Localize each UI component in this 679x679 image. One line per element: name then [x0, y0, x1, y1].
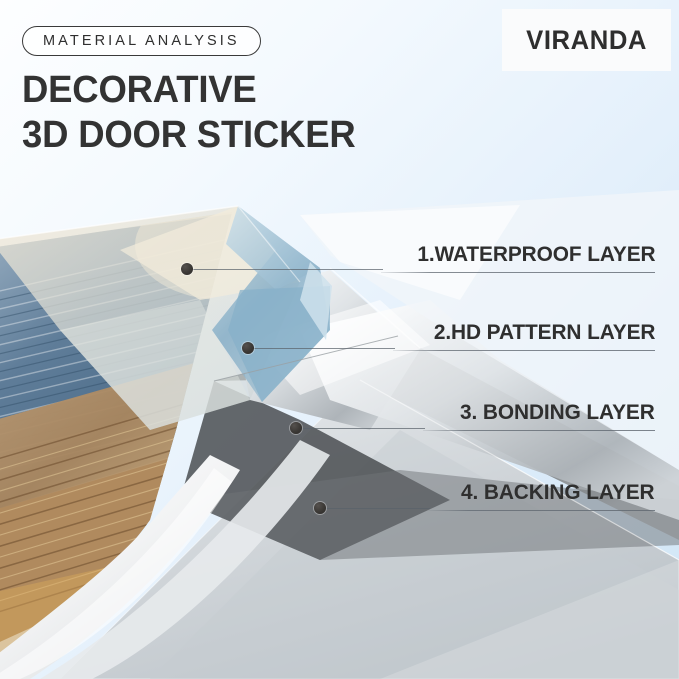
- leader-line-4: [320, 508, 430, 509]
- badge-label: MATERIAL ANALYSIS: [43, 33, 240, 49]
- material-analysis-badge: MATERIAL ANALYSIS: [22, 26, 261, 56]
- layer-label-4: 4. BACKING LAYER: [461, 480, 655, 505]
- layer-label-2: 2.HD PATTERN LAYER: [433, 320, 655, 345]
- layer-underline-4: [428, 510, 655, 511]
- leader-line-1: [187, 269, 383, 270]
- layer-callout-3: 3. BONDING LAYER: [423, 398, 655, 431]
- layer-marker-dot-1: [181, 263, 193, 275]
- layer-label-1: 1.WATERPROOF LAYER: [417, 242, 655, 267]
- title-line-2: 3D DOOR STICKER: [22, 113, 356, 158]
- layer-marker-dot-3: [290, 422, 302, 434]
- infographic-canvas: MATERIAL ANALYSIS DECORATIVE 3D DOOR STI…: [0, 0, 679, 679]
- layer-marker-dot-2: [242, 342, 254, 354]
- layer-callout-2: 2.HD PATTERN LAYER: [393, 318, 655, 351]
- layer-callout-4: 4. BACKING LAYER: [428, 478, 655, 511]
- leader-line-2: [248, 348, 395, 349]
- layer-underline-3: [423, 430, 655, 431]
- layer-underline-1: [381, 272, 655, 273]
- brand-logo-text: VIRANDA: [526, 25, 647, 56]
- leader-line-3: [296, 428, 425, 429]
- layer-label-3: 3. BONDING LAYER: [460, 400, 655, 425]
- brand-logo: VIRANDA: [502, 9, 671, 71]
- layer-underline-2: [393, 350, 655, 351]
- page-title: DECORATIVE 3D DOOR STICKER: [22, 68, 356, 158]
- title-line-1: DECORATIVE: [22, 69, 257, 111]
- layer-callout-1: 1.WATERPROOF LAYER: [381, 240, 655, 273]
- layer-marker-dot-4: [314, 502, 326, 514]
